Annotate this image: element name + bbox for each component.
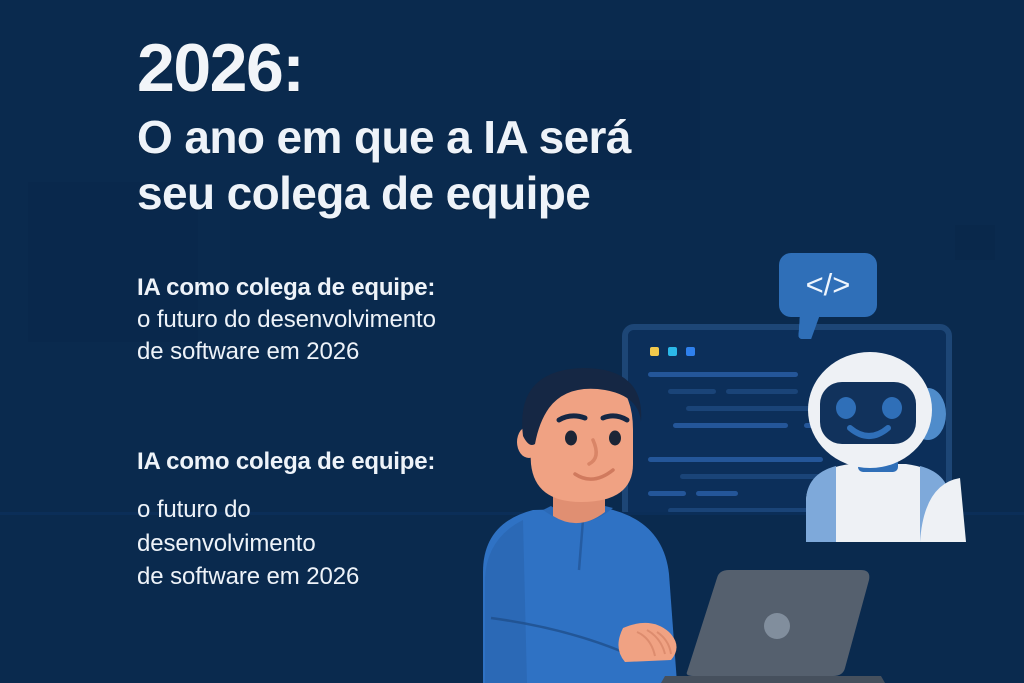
laptop-computer [645,556,895,683]
subheading-1-lead: IA como colega de equipe: [137,272,607,303]
subheading-2-lead: IA como colega de equipe: [137,446,537,477]
headline-line-2: seu colega de equipe [137,165,777,221]
poster-canvas: </> 2026: O ano em que a IA será seu col… [0,0,1024,683]
headline-year: 2026: [137,36,797,101]
headline-group: 2026: O ano em que a IA será seu colega … [137,36,797,221]
code-brackets-icon: </> [806,269,851,300]
subheading-2-line-3: de software em 2026 [137,560,537,594]
page-title: O ano em que a IA será seu colega de equ… [137,109,777,221]
subheading-1-line-1: o futuro do desenvolvimento [137,304,607,336]
speech-bubble-tail [798,315,820,339]
robot-svg [788,352,968,542]
window-dot-cyan-icon [668,347,677,356]
window-dot-blue-icon [686,347,695,356]
subheading-2-line-2: desenvolvimento [137,527,537,561]
subheading-1-line-2: de software em 2026 [137,336,607,368]
headline-line-1: O ano em que a IA será [137,109,777,165]
code-speech-bubble: </> [779,253,877,317]
ai-robot-assistant [788,352,968,542]
subheading-2-line-1: o futuro do [137,493,537,527]
subheading-block-1: IA como colega de equipe: o futuro do de… [137,272,607,368]
window-dot-yellow-icon [650,347,659,356]
window-control-dots [650,347,695,356]
subheading-2-body: o futuro do desenvolvimento de software … [137,493,537,594]
subheading-1-body: o futuro do desenvolvimento de software … [137,304,607,367]
laptop-svg [645,556,895,683]
subheading-block-2: IA como colega de equipe: o futuro do de… [137,446,537,594]
